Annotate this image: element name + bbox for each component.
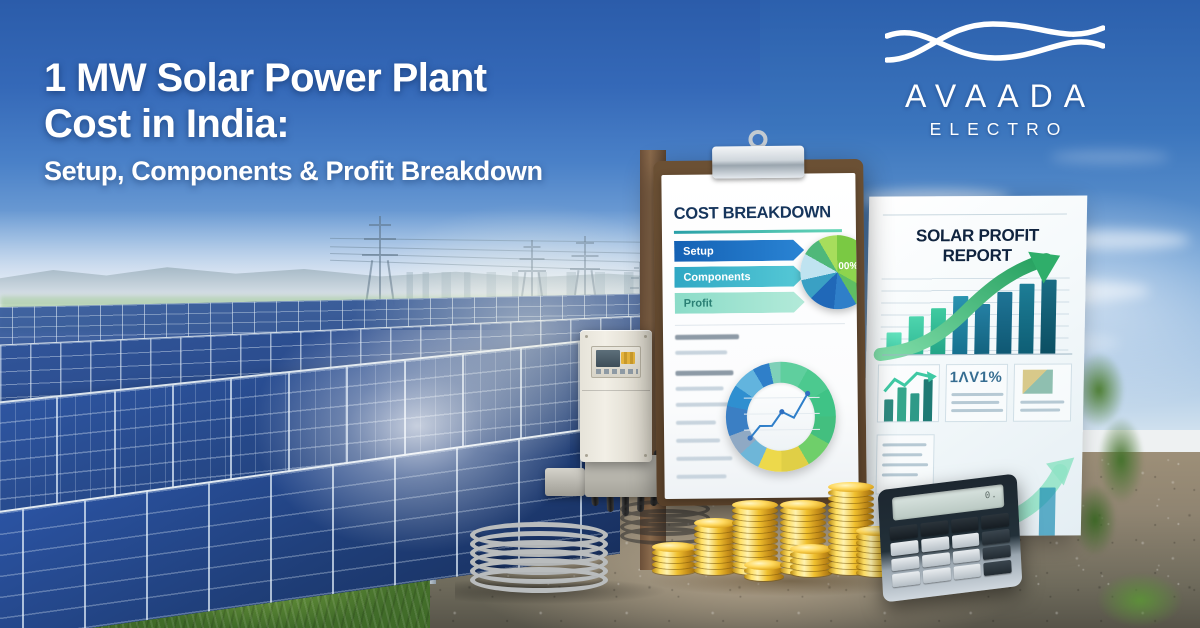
inverter-display-panel [591,346,641,378]
placeholder-value-line [676,386,724,391]
mini-trend-arrow-icon [882,369,939,395]
cloud-4 [1050,150,1170,164]
placeholder-value-line [676,420,716,424]
cost-bar-profit: Profit [675,292,805,314]
coin-stack-2 [694,500,736,576]
calculator-key [983,544,1011,560]
calculator: 0. [878,473,1023,602]
mini-text-line [951,409,1003,412]
placeholder-value-line [676,456,732,461]
calculator-key [951,532,979,548]
calculator-key [981,513,1009,529]
coin-stack-4 [744,546,784,582]
calculator-key [922,552,950,568]
mini-text-line [882,453,922,456]
pie-percentage-label: 00% [838,261,858,272]
mini-text-line [951,401,999,404]
calculator-key [984,560,1012,576]
mini-text-line [1020,401,1064,404]
inverter-lcd [596,350,620,367]
transmission-tower-1 [362,216,398,306]
clipboard-clip [712,146,804,179]
cost-breakdown-pie-chart [800,235,859,310]
calculator-key [921,536,949,552]
mini-placeholder-block [1022,370,1052,394]
cost-bar-components: Components [674,266,804,288]
brand-logo[interactable]: AVAADA ELECTRO [862,14,1128,140]
calculator-key [892,571,920,587]
mini-bar [910,393,920,421]
inverter-buttons [596,369,638,374]
coin-stack-1 [652,530,696,576]
report-mini-text-panel: 1ΛV1% [945,364,1008,422]
right-foliage [1075,350,1155,560]
calculator-key [953,564,981,580]
inverter-indicator-lights [621,352,635,364]
mini-text-line [882,473,918,476]
inverter-screw-bl [585,454,588,457]
solar-inverter [580,330,652,462]
placeholder-value-line [676,474,726,479]
calculator-key [951,516,979,532]
calculator-key [952,548,980,564]
report-bottom-bar [1039,488,1056,536]
marketing-banner: SOLAR PROFIT REPORT [0,0,1200,628]
placeholder-value-line [676,402,730,407]
calculator-keypad [890,513,1012,588]
donut-line-chart [744,381,821,452]
inverter-seam [582,390,650,391]
headline-block: 1 MW Solar Power Plant Cost in India: Se… [44,56,664,187]
headline-line-1: 1 MW Solar Power Plant [44,56,664,102]
report-top-rule [883,214,1067,216]
mini-bar [884,399,893,421]
report-title-line1: SOLAR PROFIT [868,225,1086,246]
mini-text-line [1020,409,1060,412]
inverter-screw-br [644,454,647,457]
calculator-key [923,567,951,583]
placeholder-value-line [675,350,727,355]
calculator-key [920,520,948,536]
calculator-display-value: 0. [985,490,998,502]
logo-wordmark: AVAADA [862,78,1128,115]
report-growth-arrow-icon [876,249,1078,360]
calculator-key [890,524,918,540]
logo-subtitle: ELECTRO [862,119,1128,140]
mini-text-line [882,463,928,466]
headline-line-2: Cost in India: [44,102,664,148]
inverter-screw-tl [585,335,588,338]
placeholder-label-line [675,334,739,340]
double-wave-icon [885,14,1105,76]
calculator-key [890,540,918,556]
placeholder-label-line [675,370,733,376]
inverter-screw-tr [644,335,647,338]
coin-stack-6 [790,522,832,578]
calculator-key [891,555,919,571]
cable-coil [470,522,608,594]
report-mini-chart-panel [877,364,940,422]
report-mini-image-panel [1013,363,1072,421]
calculator-key [982,528,1010,544]
mini-text-line [882,443,926,446]
cost-breakdown-title: COST BREAKDOWN [674,203,831,224]
report-garbled-text: 1ΛV1% [950,369,1003,386]
cost-bar-setup: Setup [674,240,804,262]
section-divider [675,323,845,326]
mini-text-line [951,393,1003,396]
junction-box-small [545,468,585,496]
headline-subtitle: Setup, Components & Profit Breakdown [44,156,664,187]
bottom-right-foliage [1090,560,1200,628]
placeholder-value-line [676,438,720,442]
title-underline [674,229,842,233]
